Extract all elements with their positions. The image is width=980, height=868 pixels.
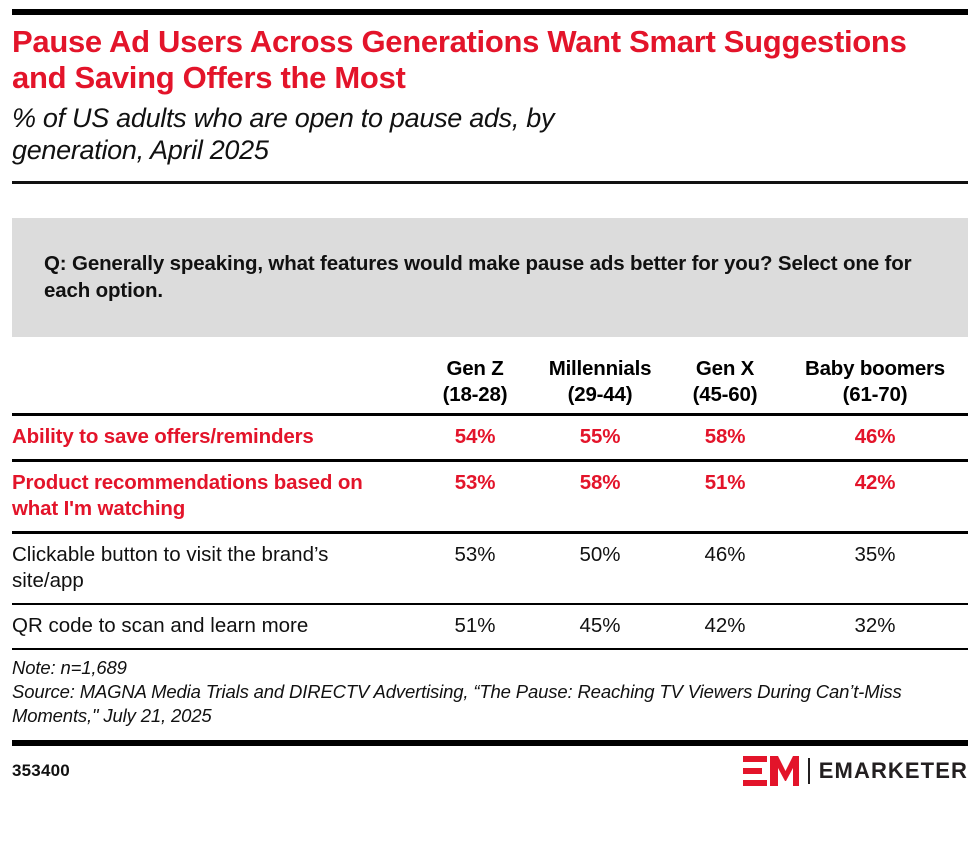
column-header-baby-boomers: Baby boomers (61-70) — [782, 356, 968, 415]
source-text: Source: MAGNA Media Trials and DIRECTV A… — [12, 680, 968, 728]
row-value-millennials: 58% — [532, 461, 668, 533]
row-value-baby-boomers: 35% — [782, 533, 968, 605]
row-value-millennials: 45% — [532, 604, 668, 649]
table-head: Gen Z (18-28) Millennials (29-44) Gen X … — [12, 356, 968, 415]
column-header-gen-z: Gen Z (18-28) — [418, 356, 532, 415]
row-value-gen-z: 53% — [418, 533, 532, 605]
row-value-baby-boomers: 42% — [782, 461, 968, 533]
row-value-gen-x: 58% — [668, 415, 782, 461]
table-row: Clickable button to visit the brand’s si… — [12, 533, 968, 605]
column-header-label — [12, 356, 418, 415]
row-value-baby-boomers: 32% — [782, 604, 968, 649]
table-row: Product recommendations based on what I'… — [12, 461, 968, 533]
question-text: Q: Generally speaking, what features wou… — [44, 250, 936, 305]
row-value-baby-boomers: 46% — [782, 415, 968, 461]
column-header-gen-x-line1: Gen X — [668, 356, 782, 382]
table-body: Ability to save offers/reminders 54% 55%… — [12, 415, 968, 650]
data-table: Gen Z (18-28) Millennials (29-44) Gen X … — [12, 356, 968, 651]
row-value-gen-z: 53% — [418, 461, 532, 533]
row-value-gen-z: 51% — [418, 604, 532, 649]
question-band: Q: Generally speaking, what features wou… — [12, 218, 968, 337]
column-header-baby-boomers-line2: (61-70) — [782, 382, 968, 408]
row-value-millennials: 50% — [532, 533, 668, 605]
title-divider — [12, 181, 968, 184]
table-row: Ability to save offers/reminders 54% 55%… — [12, 415, 968, 461]
footer: 353400 EMARKETER — [12, 756, 968, 786]
bottom-divider — [12, 740, 968, 746]
row-value-millennials: 55% — [532, 415, 668, 461]
notes-block: Note: n=1,689 Source: MAGNA Media Trials… — [12, 656, 968, 728]
top-divider — [12, 9, 968, 15]
row-label: Product recommendations based on what I'… — [12, 461, 418, 533]
chart-container: Pause Ad Users Across Generations Want S… — [0, 9, 980, 868]
column-header-millennials: Millennials (29-44) — [532, 356, 668, 415]
row-value-gen-x: 46% — [668, 533, 782, 605]
row-label: QR code to scan and learn more — [12, 604, 418, 649]
row-label: Clickable button to visit the brand’s si… — [12, 533, 418, 605]
emarketer-logo: EMARKETER — [743, 756, 968, 786]
column-header-gen-z-line1: Gen Z — [418, 356, 532, 382]
column-header-gen-z-line2: (18-28) — [418, 382, 532, 408]
row-value-gen-x: 51% — [668, 461, 782, 533]
logo-wordmark: EMARKETER — [819, 758, 968, 784]
column-header-millennials-line1: Millennials — [532, 356, 668, 382]
column-header-gen-x-line2: (45-60) — [668, 382, 782, 408]
table-header-row: Gen Z (18-28) Millennials (29-44) Gen X … — [12, 356, 968, 415]
note-text: Note: n=1,689 — [12, 656, 968, 680]
row-value-gen-z: 54% — [418, 415, 532, 461]
row-value-gen-x: 42% — [668, 604, 782, 649]
em-monogram-icon — [743, 756, 799, 786]
column-header-baby-boomers-line1: Baby boomers — [782, 356, 968, 382]
page-subtitle: % of US adults who are open to pause ads… — [12, 103, 652, 167]
table-row: QR code to scan and learn more 51% 45% 4… — [12, 604, 968, 649]
column-header-gen-x: Gen X (45-60) — [668, 356, 782, 415]
row-label: Ability to save offers/reminders — [12, 415, 418, 461]
logo-divider — [808, 758, 810, 784]
chart-id: 353400 — [12, 761, 70, 781]
page-title: Pause Ad Users Across Generations Want S… — [12, 24, 942, 96]
column-header-millennials-line2: (29-44) — [532, 382, 668, 408]
